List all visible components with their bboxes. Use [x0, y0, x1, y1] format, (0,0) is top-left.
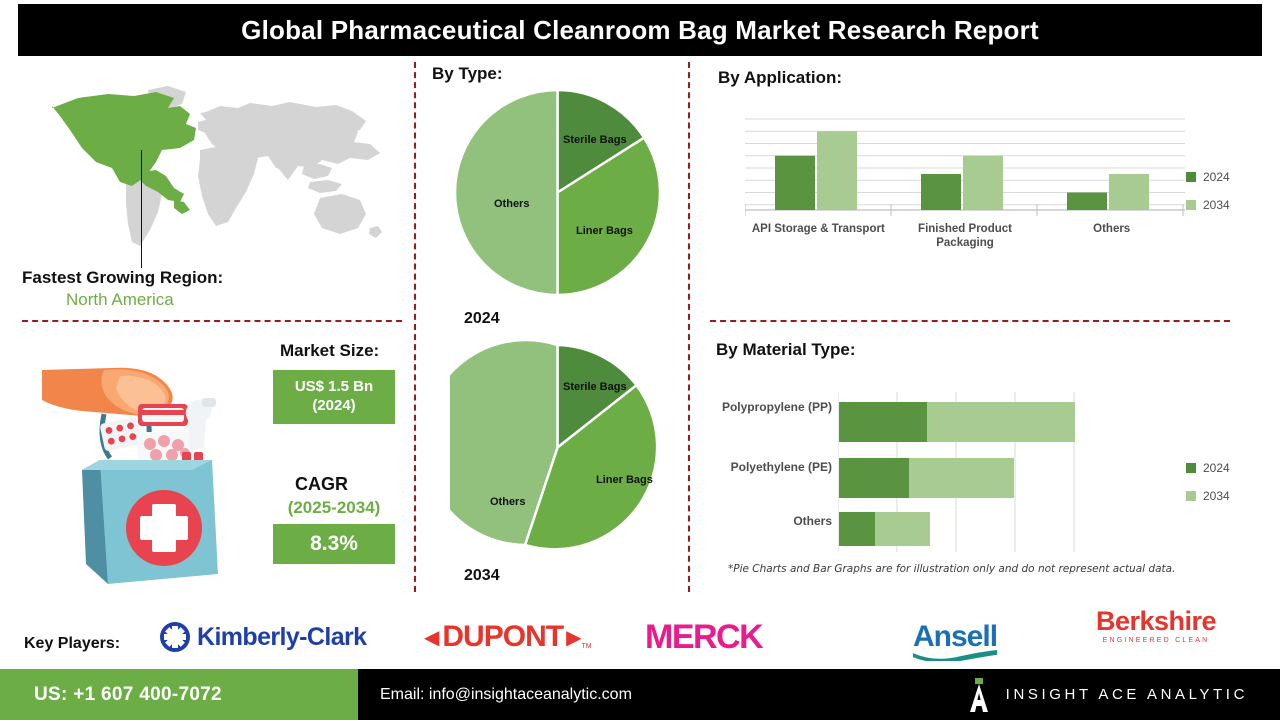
legend-swatch-2034-material: [1186, 491, 1196, 501]
page-header: Global Pharmaceutical Cleanroom Bag Mark…: [18, 4, 1262, 56]
divider-vertical-left: [414, 62, 416, 592]
merck-wordmark: MERCK: [645, 618, 762, 657]
page-footer: US: +1 607 400-7072 Email: info@insighta…: [0, 669, 1280, 720]
pie-2024-label-sterile: Sterile Bags: [563, 134, 627, 146]
insight-ace-a-logo-icon: [966, 678, 992, 712]
legend-item-2024-material: 2024: [1186, 461, 1230, 475]
chart-footnote: *Pie Charts and Bar Graphs are for illus…: [728, 563, 1175, 575]
fastest-growing-region-value: North America: [66, 290, 174, 310]
ansell-swoosh-icon: [913, 650, 997, 661]
application-bar-chart: [745, 112, 1185, 217]
material-bar-chart: [838, 392, 1088, 552]
application-category-2: Others: [1038, 222, 1185, 264]
divider-horizontal-left: [22, 320, 402, 322]
cagr-label: CAGR: [295, 474, 348, 495]
dupont-right-arrow-icon: ▶: [566, 625, 581, 650]
footer-phone[interactable]: US: +1 607 400-7072: [34, 684, 222, 706]
map-pointer-line: [141, 150, 142, 268]
by-type-title: By Type:: [432, 64, 503, 84]
ansell-wordmark: Ansell: [913, 620, 997, 654]
legend-label-2024-material: 2024: [1203, 461, 1230, 475]
pie-2034-label-others: Others: [490, 496, 525, 508]
kimberly-clark-mark-icon: [160, 622, 190, 652]
pie-chart-2034: [450, 340, 665, 555]
legend-swatch-2034: [1186, 200, 1196, 210]
application-category-1: Finished Product Packaging: [892, 222, 1039, 264]
legend-label-2034-material: 2034: [1203, 489, 1230, 503]
berkshire-wordmark: Berkshire: [1096, 606, 1216, 637]
legend-swatch-2024-material: [1186, 463, 1196, 473]
footer-brand: INSIGHT ACE ANALYTIC: [966, 669, 1248, 720]
berkshire-tagline: ENGINEERED CLEAN: [1103, 637, 1210, 644]
dupont-left-arrow-icon: ◀: [424, 625, 439, 650]
by-application-title: By Application:: [718, 68, 842, 88]
fastest-growing-region-label: Fastest Growing Region:: [22, 268, 223, 288]
legend-swatch-2024: [1186, 172, 1196, 182]
application-chart-legend: 2024 2034: [1186, 170, 1230, 226]
cagr-value: 8.3%: [310, 532, 358, 556]
divider-horizontal-right: [710, 320, 1230, 322]
material-category-0: Polypropylene (PP): [690, 400, 832, 415]
pie-2034-label-sterile: Sterile Bags: [563, 381, 627, 393]
key-players-label: Key Players:: [24, 635, 120, 653]
material-chart-legend: 2024 2034: [1186, 461, 1230, 517]
cagr-period: (2025-2034): [270, 498, 398, 518]
legend-item-2034: 2034: [1186, 198, 1230, 212]
pie-chart-2024: [450, 85, 665, 300]
logo-berkshire: Berkshire ENGINEERED CLEAN: [1096, 606, 1216, 644]
dupont-wordmark: DUPONT: [442, 620, 563, 654]
by-material-title: By Material Type:: [716, 340, 856, 360]
material-category-2: Others: [690, 514, 832, 529]
legend-item-2024: 2024: [1186, 170, 1230, 184]
pie-2034-label-liner: Liner Bags: [596, 474, 653, 486]
logo-merck: MERCK: [645, 618, 762, 657]
legend-label-2034: 2034: [1203, 198, 1230, 212]
logo-ansell: Ansell: [913, 620, 997, 654]
footer-email[interactable]: Email: info@insightaceanalytic.com: [380, 669, 632, 720]
cagr-value-box: 8.3%: [273, 524, 395, 564]
kimberly-clark-wordmark: Kimberly-Clark: [197, 623, 366, 652]
pharmacy-bag-icon: [42, 352, 242, 587]
legend-label-2024: 2024: [1203, 170, 1230, 184]
legend-item-2034-material: 2034: [1186, 489, 1230, 503]
material-category-labels: Polypropylene (PP) Polyethylene (PE) Oth…: [690, 392, 832, 552]
pie-2024-year: 2024: [464, 310, 500, 328]
market-size-value: US$ 1.5 Bn: [295, 378, 373, 397]
pie-2024-label-liner: Liner Bags: [576, 225, 633, 237]
market-size-value-box: US$ 1.5 Bn (2024): [273, 370, 395, 424]
market-size-year: (2024): [312, 397, 355, 416]
logo-dupont: ◀ DUPONT ▶ TM: [424, 620, 592, 654]
material-category-1: Polyethylene (PE): [690, 460, 832, 475]
dupont-tm: TM: [581, 643, 591, 650]
pie-2034-year: 2034: [464, 567, 500, 585]
page-title: Global Pharmaceutical Cleanroom Bag Mark…: [241, 15, 1039, 46]
footer-phone-block: US: +1 607 400-7072: [0, 669, 358, 720]
infographic-page: Global Pharmaceutical Cleanroom Bag Mark…: [0, 0, 1280, 720]
logo-kimberly-clark: Kimberly-Clark: [160, 622, 366, 652]
pie-2024-label-others: Others: [494, 198, 529, 210]
footer-brand-name: INSIGHT ACE ANALYTIC: [1006, 686, 1248, 703]
application-category-labels: API Storage & Transport Finished Product…: [745, 222, 1185, 264]
market-size-label: Market Size:: [280, 341, 379, 361]
world-map-icon: [30, 78, 400, 258]
application-category-0: API Storage & Transport: [745, 222, 892, 264]
